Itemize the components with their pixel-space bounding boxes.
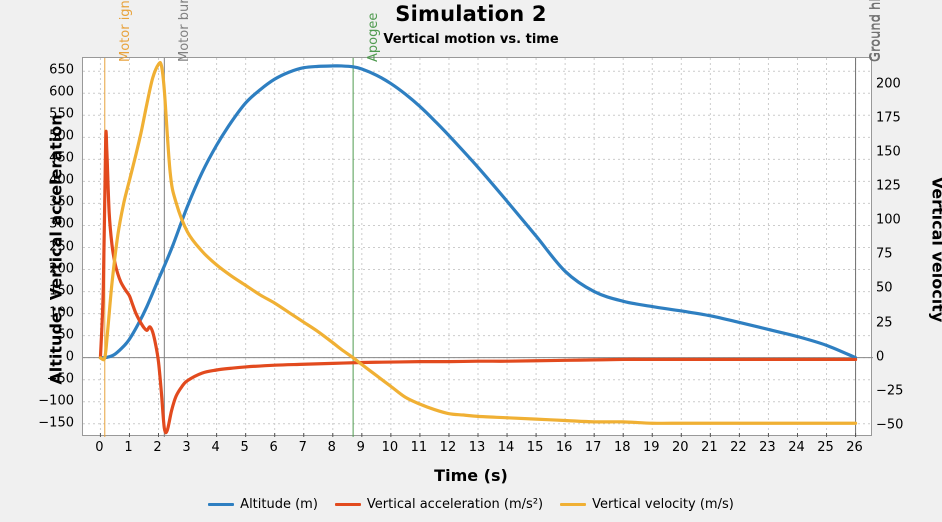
y-tick-right: 175 bbox=[876, 110, 901, 125]
x-tick: 20 bbox=[672, 440, 689, 455]
y-tick-right: 100 bbox=[876, 213, 901, 228]
x-tick: 7 bbox=[299, 440, 307, 455]
x-tick: 6 bbox=[270, 440, 278, 455]
x-tick: 0 bbox=[95, 440, 103, 455]
event-ground-hit-label: Ground hit bbox=[868, 0, 883, 62]
x-tick: 19 bbox=[643, 440, 660, 455]
legend-label: Altitude (m) bbox=[240, 498, 318, 511]
x-tick: 21 bbox=[701, 440, 718, 455]
x-axis-label: Time (s) bbox=[0, 466, 942, 485]
x-tick: 3 bbox=[182, 440, 190, 455]
legend-velocity[interactable]: Vertical velocity (m/s) bbox=[560, 498, 734, 511]
x-tick: 5 bbox=[241, 440, 249, 455]
y-tick-left: 250 bbox=[49, 239, 74, 254]
x-tick: 22 bbox=[730, 440, 747, 455]
y-tick-left: 400 bbox=[49, 173, 74, 188]
legend-acceleration[interactable]: Vertical acceleration (m/s²) bbox=[335, 498, 543, 511]
y-tick-right: 125 bbox=[876, 179, 901, 194]
y-tick-left: −50 bbox=[47, 371, 74, 386]
x-tick: 16 bbox=[556, 440, 573, 455]
y-axis-left-ticks: −150−100−5005010015020025030035040045050… bbox=[0, 57, 74, 436]
x-tick: 23 bbox=[759, 440, 776, 455]
page-subtitle: Vertical motion vs. time bbox=[0, 32, 942, 47]
event-motor-ignition-label: Motor ignition bbox=[118, 0, 133, 62]
y-tick-left: 350 bbox=[49, 195, 74, 210]
x-tick: 10 bbox=[382, 440, 399, 455]
legend-swatch bbox=[208, 503, 234, 506]
y-tick-left: 50 bbox=[57, 327, 74, 342]
x-tick: 24 bbox=[788, 440, 805, 455]
x-tick: 11 bbox=[411, 440, 428, 455]
x-tick: 18 bbox=[614, 440, 631, 455]
chart-page: Simulation 2 Vertical motion vs. time Al… bbox=[0, 0, 942, 522]
y-tick-left: 650 bbox=[49, 63, 74, 78]
y-tick-left: 450 bbox=[49, 151, 74, 166]
x-tick: 26 bbox=[846, 440, 863, 455]
x-tick: 8 bbox=[328, 440, 336, 455]
x-tick: 17 bbox=[585, 440, 602, 455]
y-tick-left: 0 bbox=[66, 349, 74, 364]
x-tick: 25 bbox=[817, 440, 834, 455]
x-tick: 1 bbox=[124, 440, 132, 455]
y-tick-right: 75 bbox=[876, 247, 893, 262]
y-tick-right: 25 bbox=[876, 315, 893, 330]
y-tick-left: −100 bbox=[38, 393, 74, 408]
x-axis-ticks: 0123456789101112131415161718192021222324… bbox=[82, 438, 872, 460]
x-tick: 9 bbox=[357, 440, 365, 455]
legend-label: Vertical acceleration (m/s²) bbox=[367, 498, 543, 511]
y-tick-right: 200 bbox=[876, 76, 901, 91]
x-tick: 4 bbox=[211, 440, 219, 455]
y-tick-right: 150 bbox=[876, 144, 901, 159]
y-tick-left: 550 bbox=[49, 107, 74, 122]
event-apogee-label: Apogee bbox=[366, 13, 381, 62]
x-tick: 13 bbox=[469, 440, 486, 455]
y-tick-right: 50 bbox=[876, 281, 893, 296]
legend-altitude[interactable]: Altitude (m) bbox=[208, 498, 318, 511]
plot-area[interactable] bbox=[82, 57, 872, 436]
legend-swatch bbox=[335, 503, 361, 506]
y-tick-right: 0 bbox=[876, 349, 884, 364]
y-tick-left: 200 bbox=[49, 261, 74, 276]
y-tick-left: 600 bbox=[49, 85, 74, 100]
y-tick-right: −25 bbox=[876, 383, 903, 398]
chart-legend: Altitude (m)Vertical acceleration (m/s²)… bbox=[0, 498, 942, 511]
y-tick-left: 100 bbox=[49, 305, 74, 320]
x-tick: 14 bbox=[498, 440, 515, 455]
y-tick-left: 500 bbox=[49, 129, 74, 144]
legend-swatch bbox=[560, 503, 586, 506]
y-tick-left: 300 bbox=[49, 217, 74, 232]
page-title: Simulation 2 bbox=[0, 2, 942, 26]
legend-label: Vertical velocity (m/s) bbox=[592, 498, 734, 511]
x-tick: 12 bbox=[440, 440, 457, 455]
x-tick: 15 bbox=[527, 440, 544, 455]
y-axis-right-ticks: −50−250255075100125150175200 bbox=[876, 57, 936, 436]
y-tick-left: 150 bbox=[49, 283, 74, 298]
event-motor-burnout-label: Motor burnout bbox=[177, 0, 192, 62]
y-tick-left: −150 bbox=[38, 415, 74, 430]
y-tick-right: −50 bbox=[876, 417, 903, 432]
x-tick: 2 bbox=[153, 440, 161, 455]
plot-svg bbox=[83, 58, 873, 437]
